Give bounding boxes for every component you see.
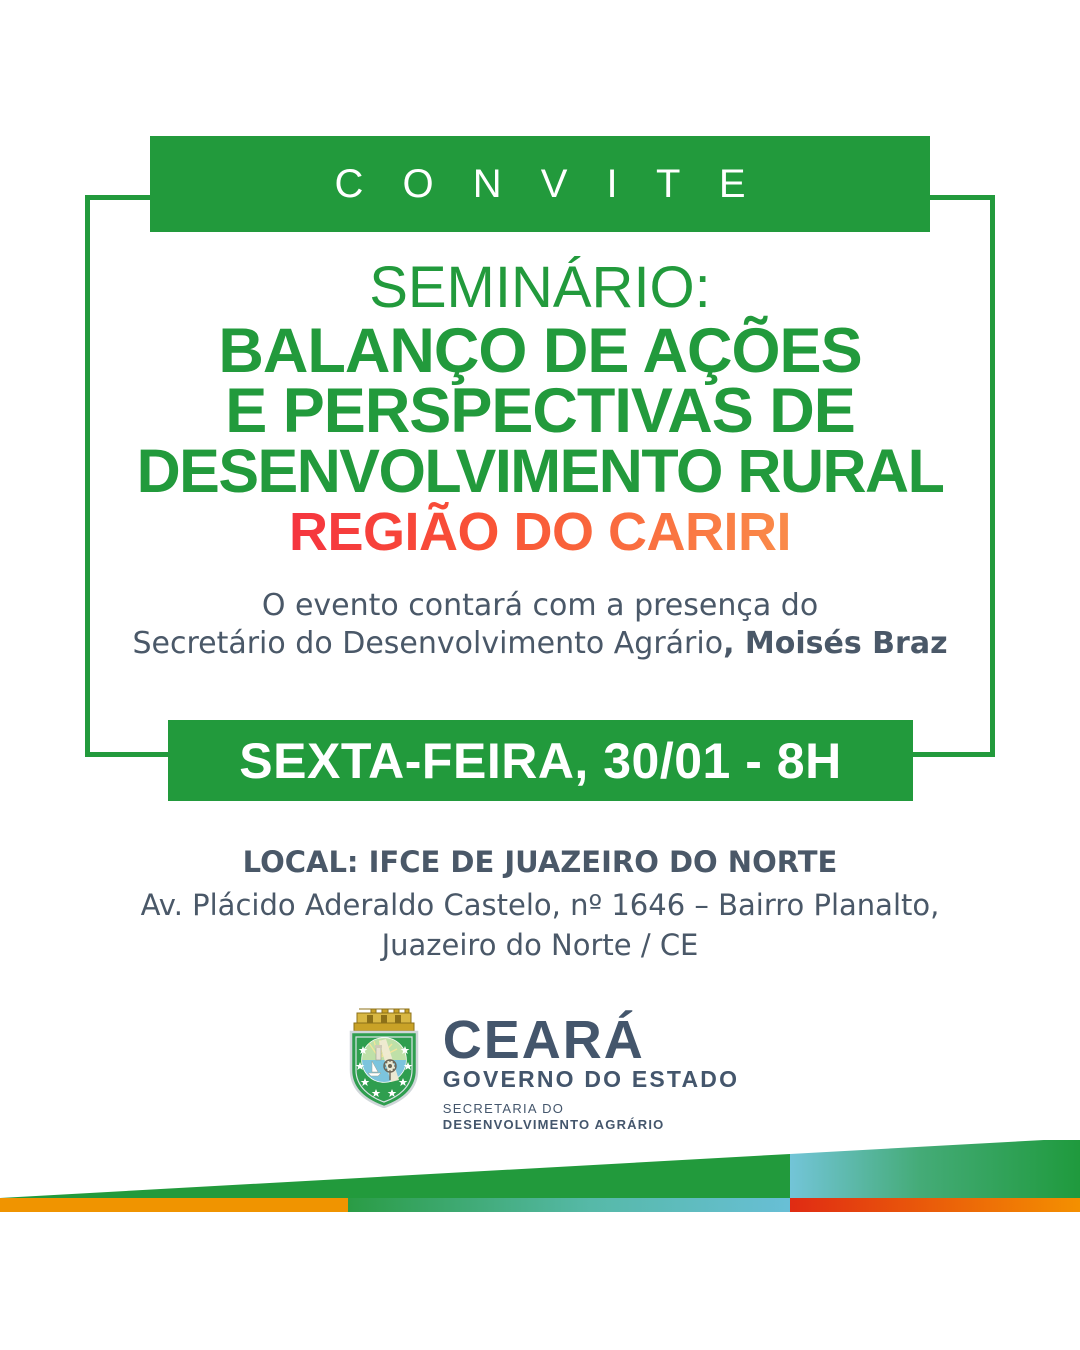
date-label: SEXTA-FEIRA, 30/01 - 8H: [239, 732, 841, 790]
title-line-1: BALANÇO DE AÇÕES: [0, 321, 1080, 381]
venue-title: LOCAL: IFCE DE JUAZEIRO DO NORTE: [0, 845, 1080, 879]
band-red-orange-strip-right: [790, 1198, 1080, 1212]
logo-secretariat-line-1: SECRETARIA DO: [443, 1101, 739, 1117]
presence-note: O evento contará com a presença do Secre…: [0, 587, 1080, 663]
presence-name: , Moisés Braz: [723, 626, 947, 661]
title-line-2: E PERSPECTIVAS DE: [0, 381, 1080, 441]
date-banner: SEXTA-FEIRA, 30/01 - 8H: [168, 720, 913, 801]
presence-line-1: O evento contará com a presença do: [0, 587, 1080, 625]
logo-government-line: GOVERNO DO ESTADO: [443, 1066, 739, 1092]
event-content: SEMINÁRIO: BALANÇO DE AÇÕES E PERSPECTIV…: [0, 255, 1080, 663]
band-green-wedge-left: [0, 1154, 790, 1198]
venue-block: LOCAL: IFCE DE JUAZEIRO DO NORTE Av. Plá…: [0, 845, 1080, 965]
convite-banner: C O N V I T E: [150, 136, 930, 232]
title-highlight: REGIÃO DO CARIRI: [283, 501, 797, 563]
venue-address: Av. Plácido Aderaldo Castelo, nº 1646 – …: [0, 885, 1080, 965]
band-green-wedge-right: [790, 1140, 1080, 1198]
presence-role: Secretário do Desenvolvimento Agrário: [132, 626, 723, 661]
band-gradient-strip-middle: [348, 1198, 790, 1212]
convite-label: C O N V I T E: [320, 162, 759, 207]
title-highlight-wrap: REGIÃO DO CARIRI: [0, 501, 1080, 563]
presence-line-2: Secretário do Desenvolvimento Agrário, M…: [0, 625, 1080, 663]
logo-secretariat-line-2: DESENVOLVIMENTO AGRÁRIO: [443, 1117, 739, 1133]
footer-decorative-band: [0, 1140, 1080, 1250]
venue-address-line-1: Av. Plácido Aderaldo Castelo, nº 1646 – …: [0, 885, 1080, 925]
title-eyebrow: SEMINÁRIO:: [0, 255, 1080, 321]
logo-state-name: CEARÁ: [443, 1014, 739, 1066]
government-logo: CEARÁ GOVERNO DO ESTADO SECRETARIA DO DE…: [0, 1000, 1080, 1133]
logo-text-block: CEARÁ GOVERNO DO ESTADO SECRETARIA DO DE…: [443, 1000, 739, 1133]
title-line-3: DESENVOLVIMENTO RURAL: [0, 441, 1080, 501]
ceara-coat-of-arms-icon: [341, 1000, 427, 1108]
venue-address-line-2: Juazeiro do Norte / CE: [0, 925, 1080, 965]
band-orange-strip-left: [0, 1198, 348, 1212]
